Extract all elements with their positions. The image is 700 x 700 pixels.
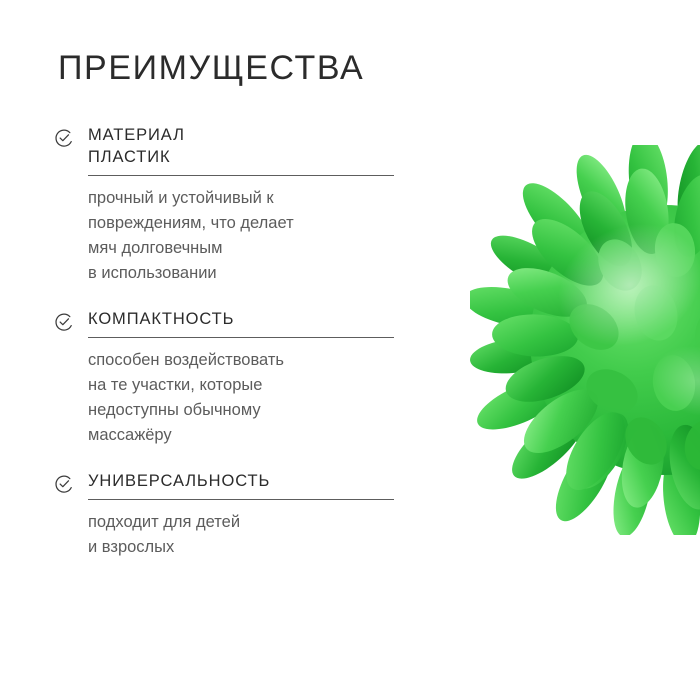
benefit-item-material: МАТЕРИАЛ ПЛАСТИК прочный и устойчивый к … [54, 124, 399, 286]
benefit-description: способен воздействовать на те участки, к… [88, 348, 399, 448]
spiky-massage-ball-graphic [470, 145, 700, 535]
benefit-body: КОМПАКТНОСТЬ способен воздействовать на … [88, 308, 399, 448]
circle-check-icon [54, 128, 74, 148]
circle-check-icon [54, 474, 74, 494]
benefit-item-universality: УНИВЕРСАЛЬНОСТЬ подходит для детей и взр… [54, 470, 399, 560]
benefit-divider [88, 337, 394, 338]
benefit-divider [88, 499, 394, 500]
page-title: ПРЕИМУЩЕСТВА [58, 46, 364, 90]
benefits-list: МАТЕРИАЛ ПЛАСТИК прочный и устойчивый к … [54, 124, 399, 560]
benefit-divider [88, 175, 394, 176]
benefit-title: МАТЕРИАЛ ПЛАСТИК [88, 124, 399, 168]
benefit-title: КОМПАКТНОСТЬ [88, 308, 399, 330]
benefit-description: прочный и устойчивый к повреждениям, что… [88, 186, 399, 286]
benefit-item-compactness: КОМПАКТНОСТЬ способен воздействовать на … [54, 308, 399, 448]
benefit-title: УНИВЕРСАЛЬНОСТЬ [88, 470, 399, 492]
benefit-description: подходит для детей и взрослых [88, 510, 399, 560]
benefit-body: МАТЕРИАЛ ПЛАСТИК прочный и устойчивый к … [88, 124, 399, 286]
circle-check-icon [54, 312, 74, 332]
infographic-page: ПРЕИМУЩЕСТВА МАТЕРИАЛ ПЛАСТИК прочный и … [0, 0, 700, 700]
benefit-body: УНИВЕРСАЛЬНОСТЬ подходит для детей и взр… [88, 470, 399, 560]
product-image [430, 110, 700, 590]
